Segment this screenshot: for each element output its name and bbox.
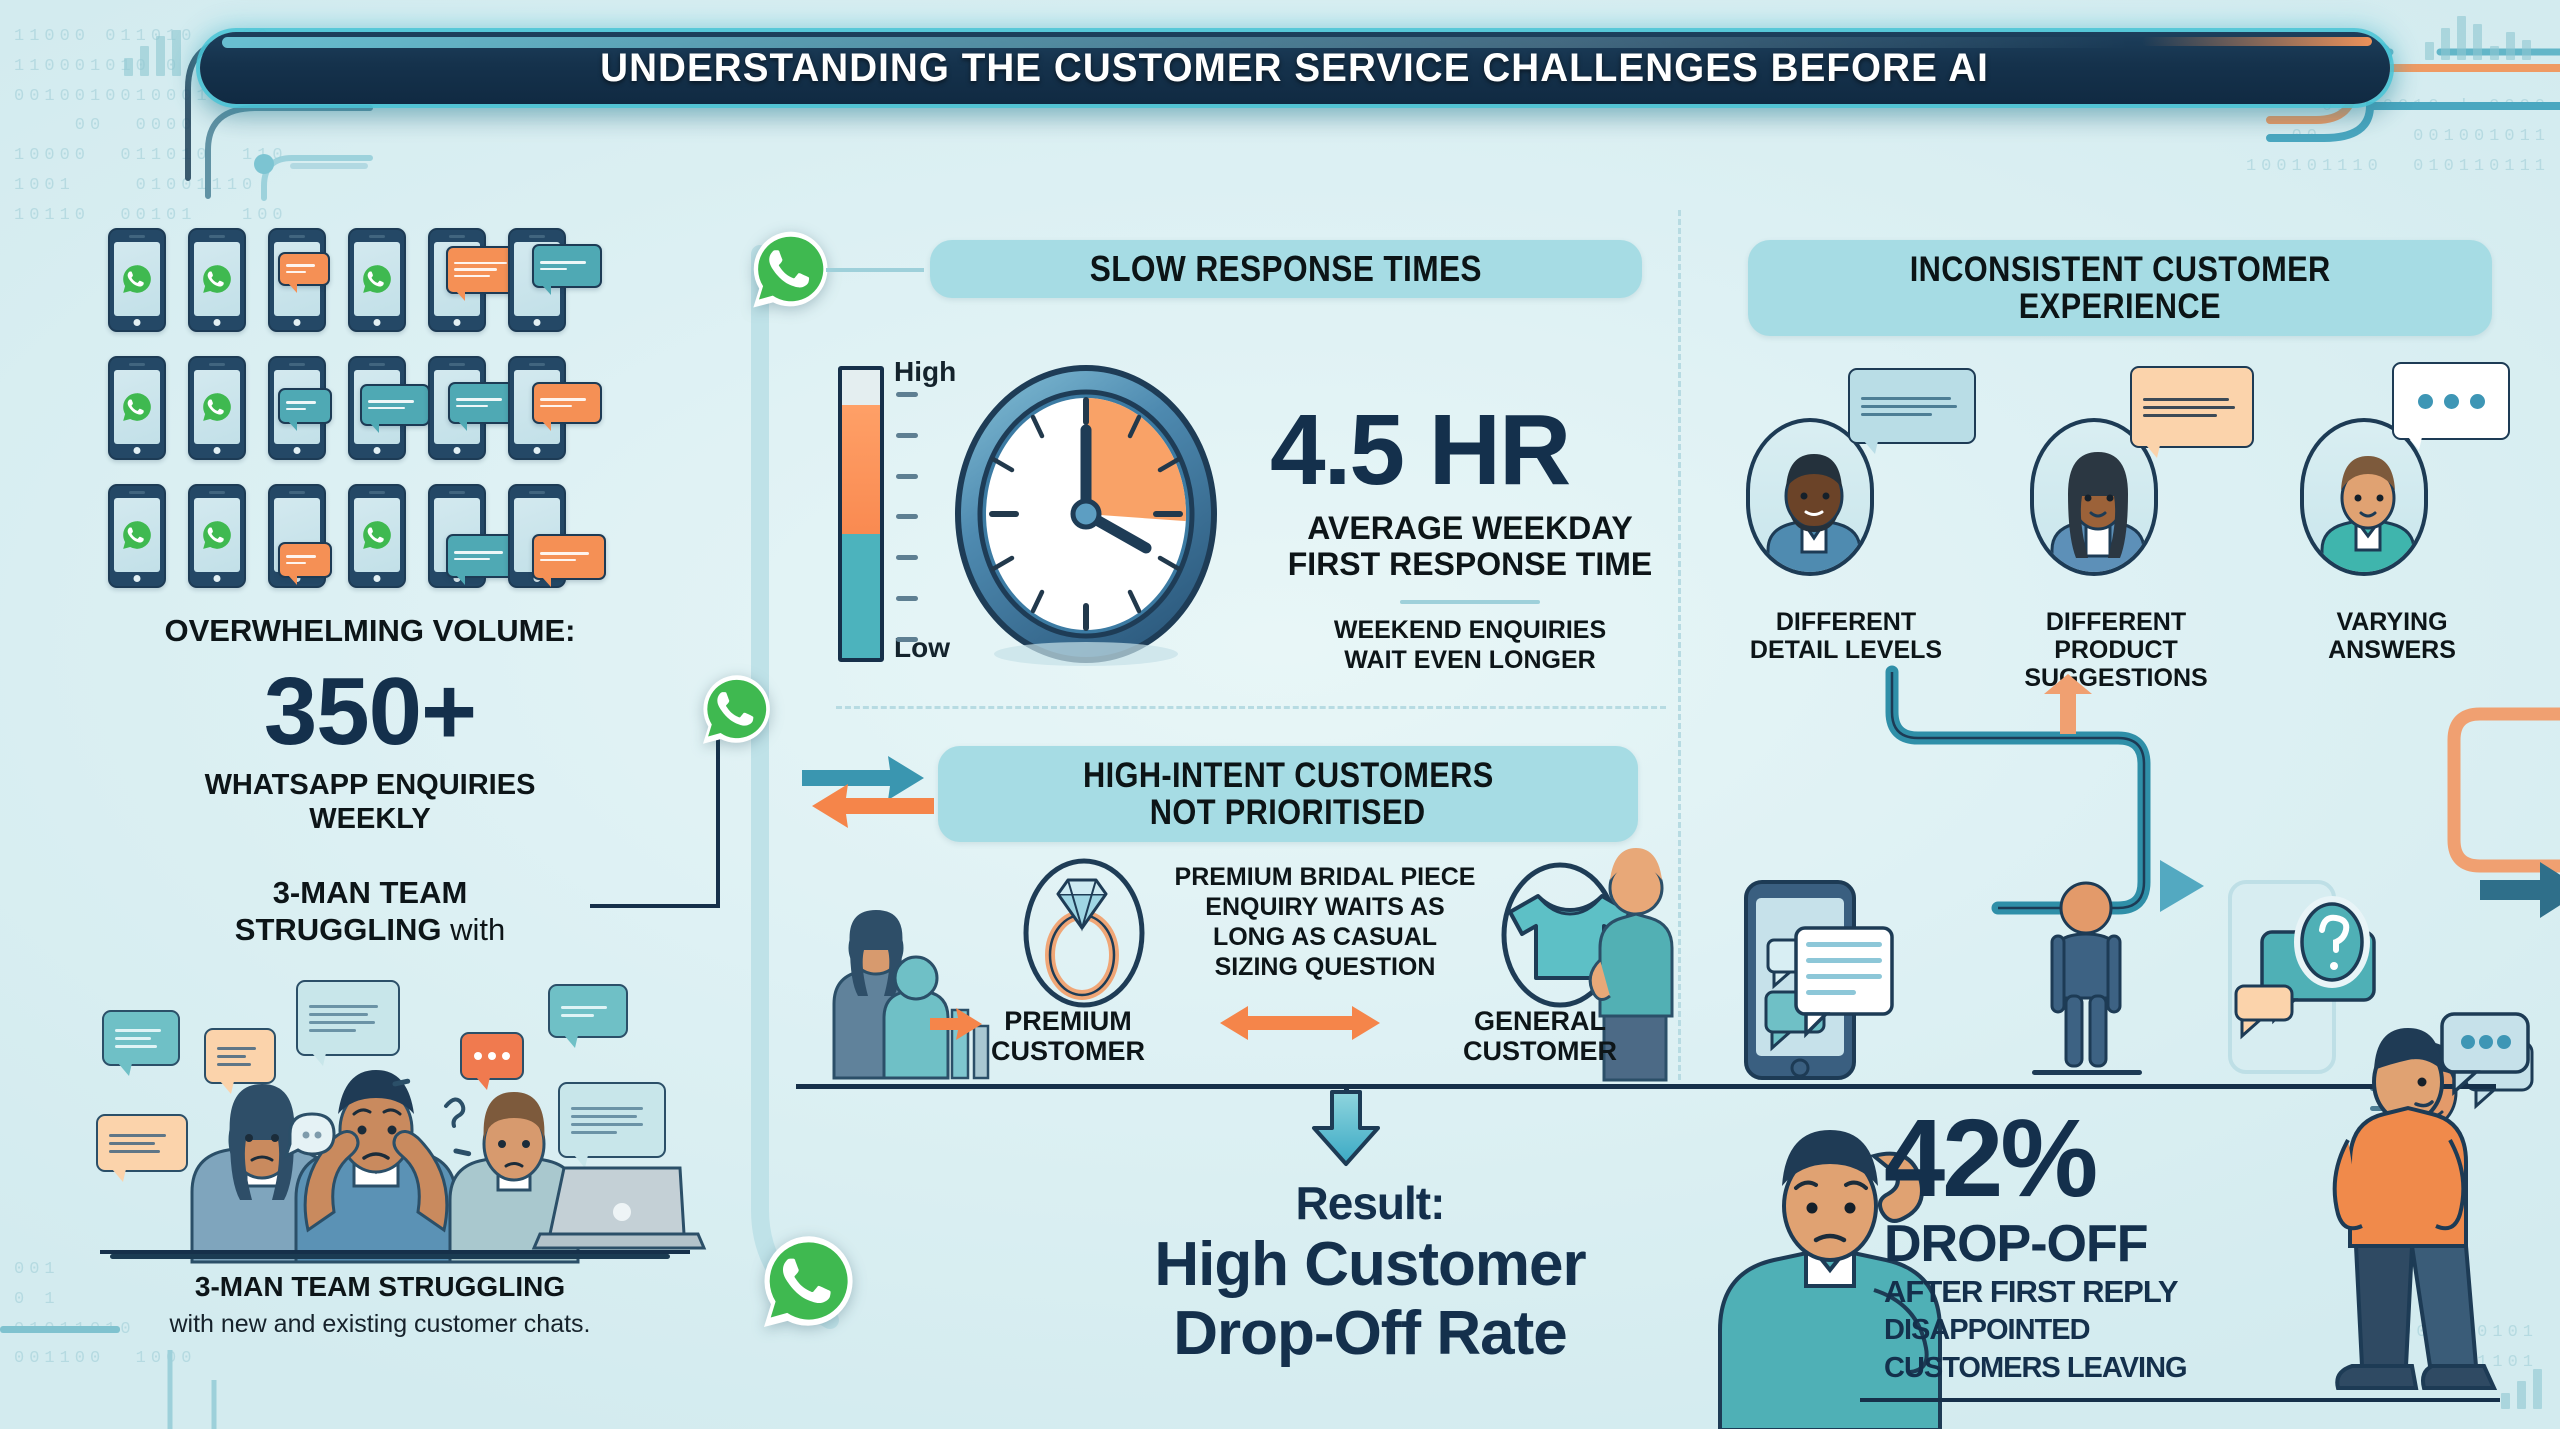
response-gauge [838,366,884,662]
whatsapp-icon [120,262,154,296]
bar-decor-top-right [2425,16,2482,60]
weekend-note-line2: Wait Even Longer [1260,645,1680,675]
chat-bubble-icon [532,534,606,580]
item3-line1: Varying [2272,608,2512,636]
team-headline-light: with [450,912,505,947]
clock-illustration [936,364,1236,664]
item2-line2: Product [1996,636,2236,664]
thought-bubble-icon [286,1114,334,1156]
flow-phone-left [1744,880,1934,1080]
premium-label-line1: Premium [948,1006,1188,1036]
badge-connector-line [826,268,924,272]
team-caption-light: with new and existing customer chats. [60,1310,700,1339]
enquiries-caption-line2: Weekly [60,802,680,836]
phone-grid [108,228,566,602]
item1-line1: Different [1726,608,1966,636]
inconsistent-item-1-label: Different Detail Levels [1726,608,1966,664]
chat-bubble-icon [278,252,330,286]
phone-tile [188,484,246,588]
chat-bubble-icon [532,382,602,424]
team-headline-strong: Struggling [235,912,442,947]
whatsapp-badge-mid [700,672,774,746]
dropoff-caption-line1: After First Reply [1884,1274,2304,1310]
phone-tile [428,484,486,588]
response-time-caption: Average Weekday First Response Time [1260,510,1680,583]
enquiries-stat-caption: WhatsApp Enquiries Weekly [60,768,680,836]
general-label-line2: Customer [1420,1036,1660,1066]
chat-bubble-icon [2130,366,2254,448]
phone-tile [508,228,566,332]
bar-decor-top-left [124,30,181,76]
result-headline-line2: Drop-Off Rate [960,1299,1780,1368]
diamond-ring-icon [1022,858,1146,1008]
result-headline-line1: High Customer [960,1230,1780,1299]
premium-customer-label: Premium Customer [948,1006,1188,1066]
walking-away-customer [2290,1000,2530,1420]
phone-tile [268,228,326,332]
slow-response-title: Slow Response Times [1090,248,1482,290]
item2-line1: Different [1996,608,2236,636]
response-caption-line2: First Response Time [1260,546,1680,582]
overwhelming-volume-kicker: Overwhelming Volume: [60,614,680,648]
dropoff-stat-value: 42% [1884,1104,2304,1214]
whatsapp-icon [360,262,394,296]
high-intent-body-line3: Long As Casual [1150,922,1500,952]
enquiries-caption-line1: WhatsApp Enquiries [60,768,680,802]
gauge-ticks [896,392,918,642]
high-intent-body-line1: Premium Bridal Piece [1150,862,1500,892]
gauge-segment-high [842,405,880,535]
phone-tile [348,484,406,588]
team-caption-bold: 3-Man Team Struggling [60,1272,700,1303]
response-time-stat: 4.5 HR [1270,400,1670,500]
phone-tile [508,484,566,588]
dropoff-stat-label: Drop-Off [1884,1218,2304,1270]
whatsapp-icon [200,390,234,424]
infographic-canvas: 11000 011010 00 110001010 0 01001 001001… [0,0,2560,1429]
phone-tile [108,228,166,332]
clock-icon [936,364,1236,664]
page-title: Understanding the Customer Service Chall… [601,46,1990,91]
response-caption-line1: Average Weekday [1260,510,1680,546]
exchange-arrows-icon [798,748,938,840]
chat-bubble-icon [2392,362,2510,440]
gauge-segment-low [842,534,880,658]
whatsapp-icon [700,672,774,746]
stressed-team-illustration [96,962,696,1262]
result-rail-left [796,1084,1348,1089]
flow-agent-figure [2032,880,2142,1080]
high-intent-body-line2: Enquiry Waits As [1150,892,1500,922]
result-label: Result: [1000,1176,1740,1230]
chat-bubble-icon [532,244,602,288]
team-headline-line1: 3-Man Team [60,875,680,912]
baseline-rule-left [100,1250,690,1254]
team-member-2 [296,1070,456,1262]
phone-tile [508,356,566,460]
whatsapp-icon [760,1232,858,1330]
high-intent-body-line4: Sizing Question [1150,952,1500,982]
slow-response-title-pill: Slow Response Times [930,240,1642,298]
high-intent-title-line1: High-Intent Customers [1083,757,1494,794]
general-label-line1: General [1420,1006,1660,1036]
phone-tile [188,356,246,460]
result-headline: High Customer Drop-Off Rate [960,1230,1780,1369]
whatsapp-icon [200,518,234,552]
high-intent-body: Premium Bridal Piece Enquiry Waits As Lo… [1150,862,1500,982]
chat-bubble-icon [278,542,332,578]
phone-tile [108,356,166,460]
chat-bubble-icon [278,388,332,424]
response-caption-rule [1400,600,1540,604]
chat-bubble-icon [1848,368,1976,444]
high-intent-title-pill: High-Intent Customers Not Prioritised [938,746,1638,842]
weekend-note-line1: Weekend Enquiries [1260,615,1680,645]
whatsapp-badge-top [750,228,832,310]
phone-tile [268,356,326,460]
phone-tile [348,356,406,460]
item3-line2: Answers [2272,636,2512,664]
item1-line2: Detail Levels [1726,636,1966,664]
whatsapp-icon [120,390,154,424]
team-struggling-headline: 3-Man Team Struggling with [60,875,680,948]
whatsapp-icon [200,262,234,296]
weekend-note: Weekend Enquiries Wait Even Longer [1260,615,1680,675]
inconsistent-title-line1: Inconsistent Customer [1910,251,2331,288]
question-mark-icon [446,1099,463,1126]
inconsistent-title-pill: Inconsistent Customer Experience [1748,240,2492,336]
title-banner: Understanding the Customer Service Chall… [200,32,2390,104]
team-headline-line2: Struggling with [60,912,680,949]
dropoff-caption-line3: Customers Leaving [1884,1352,2304,1385]
premium-label-line2: Customer [948,1036,1188,1066]
phone-tile [428,228,486,332]
whatsapp-icon [750,228,832,310]
phone-tile [348,228,406,332]
bar-decor-top-right-2 [2490,24,2531,60]
compare-double-arrow-icon [1190,1000,1410,1046]
inconsistent-title-line2: Experience [2019,288,2221,325]
phone-tile [108,484,166,588]
result-down-arrow [1310,1090,1382,1166]
baseline-rule-right [1860,1398,2500,1402]
phone-tile [428,356,486,460]
whatsapp-icon [360,518,394,552]
phone-tile [268,484,326,588]
enquiries-stat-value: 350+ [60,662,680,763]
divider-horizontal-centre [836,706,1666,709]
general-customer-label: General Customer [1420,1006,1660,1066]
whatsapp-badge-bottom [760,1232,858,1330]
high-intent-title-line2: Not Prioritised [1150,794,1426,831]
inconsistent-item-3-label: Varying Answers [2272,608,2512,664]
phone-tile [188,228,246,332]
whatsapp-icon [120,518,154,552]
gauge-segment-empty [842,370,880,405]
dropoff-caption-line2: Disappointed [1884,1314,2304,1347]
chat-bubble-icon [360,384,430,426]
